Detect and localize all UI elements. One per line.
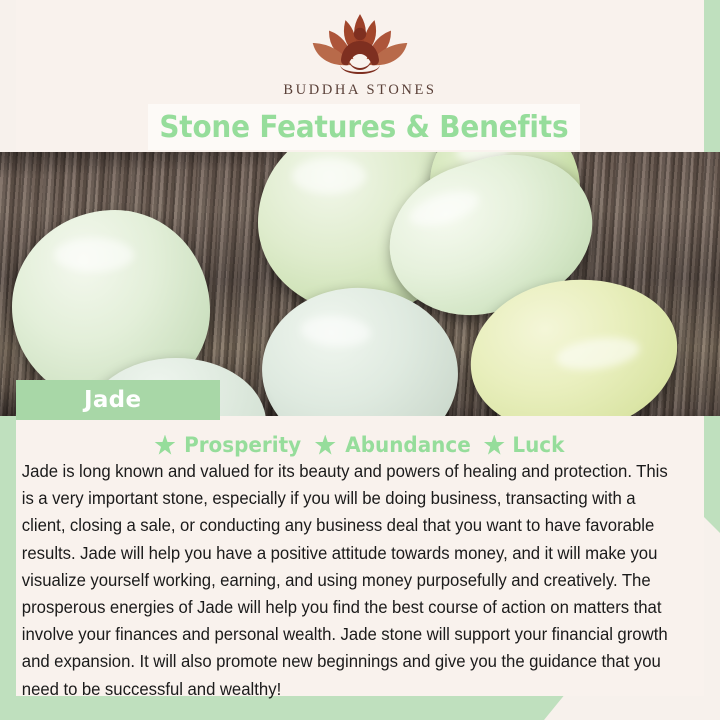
stone-info-card: BUDDHA STONES Stone Features & Benefits … (0, 0, 720, 720)
keyword-list: Prosperity Abundance Luck (16, 428, 704, 462)
star-icon (484, 435, 505, 456)
keyword-label: Abundance (345, 433, 470, 457)
lotus-meditation-icon (296, 8, 424, 80)
keyword-item-prosperity: Prosperity (154, 433, 304, 457)
stone-photo (0, 152, 720, 416)
keyword-label: Luck (512, 433, 564, 457)
title-banner: Stone Features & Benefits (148, 104, 580, 150)
star-icon (154, 435, 175, 456)
brand-name: BUDDHA STONES (0, 82, 720, 99)
page-title: Stone Features & Benefits (160, 110, 569, 145)
star-icon (315, 435, 336, 456)
description-block: Jade is long known and valued for its be… (16, 458, 704, 703)
keyword-item-abundance: Abundance (315, 433, 474, 457)
stone-name: Jade (84, 387, 141, 413)
description-text: Jade is long known and valued for its be… (16, 458, 678, 703)
brand-block: BUDDHA STONES (0, 8, 720, 99)
keyword-item-luck: Luck (484, 433, 566, 457)
stone-name-band: Jade (16, 380, 220, 420)
keyword-label: Prosperity (185, 433, 302, 457)
